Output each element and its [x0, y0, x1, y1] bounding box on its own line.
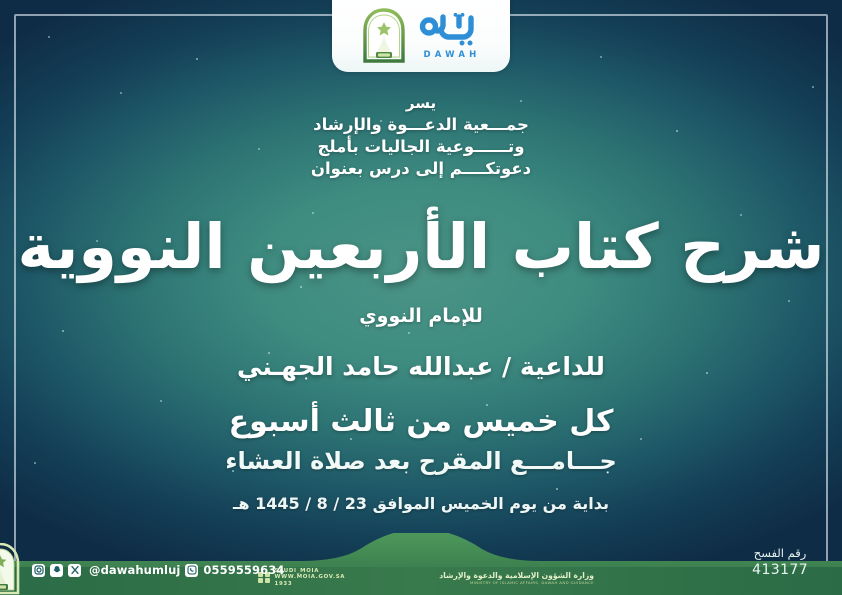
association-line-1: يسر — [0, 92, 842, 114]
ministry-name-arabic: وزارة الشؤون الإسلامية والدعوة والإرشاد — [439, 571, 594, 581]
start-date: بداية من يوم الخميس الموافق 23 / 8 / 144… — [0, 494, 842, 513]
permit-block: رقم الفسح 413177 — [752, 545, 808, 579]
ministry-name-english: MINISTRY OF ISLAMIC AFFAIRS, DAWAH AND G… — [439, 580, 594, 586]
whatsapp-icon[interactable] — [185, 564, 198, 577]
footer-year: 1933 — [275, 581, 346, 587]
instagram-icon[interactable] — [32, 564, 45, 577]
association-line-3: وتــــــوعية الجاليات بأملج — [0, 136, 842, 158]
venue-location: جـــامـــع المقرح بعد صلاة العشاء — [0, 447, 842, 475]
event-poster: DAWAH يسر جمـــعية الدعـــوة والإرشاد وت… — [0, 0, 842, 595]
title-subtitle-author: للإمام النووي — [0, 305, 842, 327]
dawah-wordmark: DAWAH — [420, 50, 481, 60]
speaker-name: للداعية / عبدالله حامد الجهـني — [0, 352, 842, 381]
ministry-mihrab-emblem — [361, 8, 407, 64]
social-contact-bar: @dawahumluj 0559559634 — [32, 563, 284, 577]
dawah-logo-block: DAWAH — [419, 13, 481, 60]
footer-website: WWW.MOIA.GOV.SA — [275, 574, 346, 580]
page-title: شرح كتاب الأربعين النووية — [0, 210, 842, 284]
whatsapp-number[interactable]: 0559559634 — [203, 563, 284, 577]
dawah-arabic-logo — [419, 13, 481, 49]
association-line-4: دعوتكــــم إلى درس بعنوان — [0, 158, 842, 180]
permit-label: رقم الفسح — [752, 545, 808, 561]
twitter-x-icon[interactable] — [68, 564, 81, 577]
footer-ministry-name: وزارة الشؤون الإسلامية والدعوة والإرشاد … — [439, 571, 594, 587]
header-logo-plate: DAWAH — [332, 0, 510, 72]
ministry-footer-emblem — [0, 543, 22, 595]
schedule-recurrence: كل خميس من ثالث أسبوع — [0, 404, 842, 440]
association-heading: يسر جمـــعية الدعـــوة والإرشاد وتــــــ… — [0, 92, 842, 180]
snapchat-icon[interactable] — [50, 564, 63, 577]
social-handle[interactable]: @dawahumluj — [89, 563, 180, 577]
permit-number: 413177 — [752, 561, 808, 579]
association-line-2: جمـــعية الدعـــوة والإرشاد — [0, 114, 842, 136]
